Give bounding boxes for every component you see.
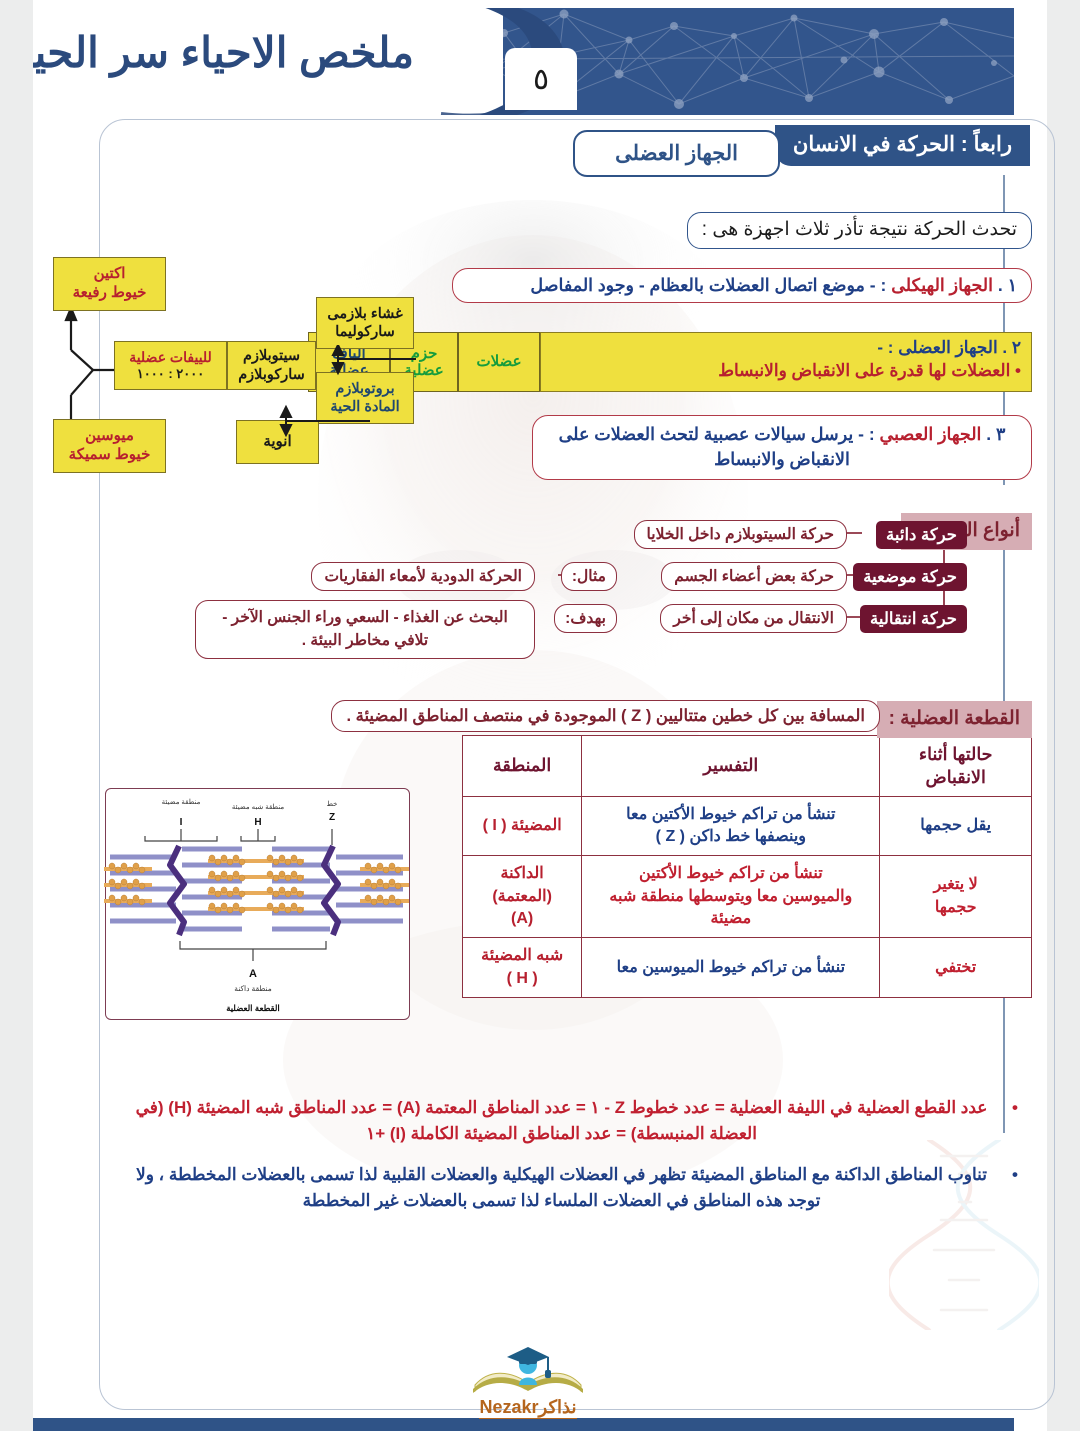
- box-myofibrils: للييفات عضلية ٢٠٠٠ : ١٠٠٠: [114, 341, 227, 390]
- footer-logo-text-en: Nezakr: [479, 1397, 538, 1417]
- row2-zone: الداكنة (المعتمة) (A): [463, 856, 582, 938]
- box-myosin-line2: خيوط سميكة: [69, 446, 151, 465]
- row2-zone-line2: (المعتمة): [471, 886, 573, 908]
- th-zone: المنطقة: [463, 736, 582, 797]
- box-membrane-line1: غشاء بلازمى: [327, 305, 402, 323]
- box-actin: اكتين خيوط رفيعة: [53, 257, 166, 311]
- svg-text:القطعة العضلية: القطعة العضلية: [226, 1003, 280, 1013]
- zones-table: حالتها أثناء الانقباض التفسير المنطقة يق…: [462, 735, 1032, 998]
- movement-note-locomotor-line2: تلافي مخاطر البيئة .: [208, 629, 522, 652]
- box-membrane-line2: ساركوليما: [335, 323, 395, 341]
- row1-explain-line2: وينصفها خط داكن ( Z ): [590, 826, 871, 848]
- sarcomere-figure-svg: منطقة مضيئة منطقة شبه مضيئة خط I H Z: [104, 789, 409, 1021]
- section-nav-chip[interactable]: رابعاً : الحركة في الانسان: [775, 125, 1030, 166]
- bullet-striation: • تناوب المناطق الداكنة مع المناطق المضي…: [118, 1162, 1018, 1215]
- figure-label-a: A: [249, 968, 257, 980]
- table-row: لا يتغير حجمها تنشأ من تراكم خيوط الأكتي…: [463, 856, 1032, 938]
- row2-zone-line1: الداكنة: [471, 863, 573, 885]
- system-3-colon: :: [869, 424, 875, 444]
- box-myofibrils-ratio: ٢٠٠٠ : ١٠٠٠: [137, 366, 204, 382]
- summary-bullets: • عدد القطع العضلية في الليفة العضلية = …: [118, 1095, 1018, 1228]
- footer-logo: نذاكرNezakr: [463, 1333, 593, 1421]
- movement-connector-example: مثال:: [561, 562, 617, 591]
- movement-type-local: حركة موضعية: [853, 563, 967, 591]
- row3-zone-line1: شبه المضيئة: [471, 945, 573, 967]
- movement-note-locomotor-line1: البحث عن الغذاء - السعي وراء الجنس الآخر…: [208, 606, 522, 629]
- system-2-number: ٢ .: [1002, 338, 1021, 357]
- svg-text:I: I: [180, 817, 183, 828]
- graduation-book-icon: [463, 1333, 593, 1395]
- bullet-formula-line1: عدد القطع العضلية في الليفة العضلية = عد…: [197, 1098, 988, 1117]
- row3-zone: شبه المضيئة ( H ): [463, 938, 582, 998]
- system-2-colon: :: [888, 338, 894, 357]
- sarcomere-definition: المسافة بين كل خطين متتاليين ( Z ) الموج…: [331, 700, 880, 732]
- system-2-dash: -: [877, 338, 883, 357]
- box-myosin-line1: ميوسين: [85, 427, 134, 446]
- row2-state: لا يتغير حجمها: [880, 856, 1032, 938]
- bullet-striation-body: تناوب المناطق الداكنة مع المناطق المضيئة…: [118, 1162, 1005, 1215]
- system-1-name: الجهاز الهيكلى: [891, 275, 993, 295]
- bullet-striation-line1: تناوب المناطق الداكنة مع المناطق المضيئة…: [241, 1165, 987, 1184]
- movement-type-continuous: حركة دائبة: [876, 521, 967, 549]
- svg-text:Z: Z: [329, 812, 335, 823]
- system-1-desc: - موضع اتصال العضلات بالعظام - وجود المف…: [530, 275, 875, 295]
- row1-explain-line1: تنشأ من تراكم خيوط الأكتين معا: [590, 804, 871, 826]
- svg-text:منطقة مضيئة: منطقة مضيئة: [162, 798, 201, 806]
- box-actin-line1: اكتين: [94, 265, 126, 284]
- sarcomere-heading: القطعة العضلية :: [877, 701, 1032, 738]
- svg-text:منطقة داكنة: منطقة داكنة: [234, 984, 272, 993]
- table-header-row: حالتها أثناء الانقباض التفسير المنطقة: [463, 736, 1032, 797]
- system-muscular: ٢ . الجهاز العضلى : - • العضلات لها قدرة…: [540, 332, 1032, 392]
- row2-explain-line1: تنشأ من تراكم خيوط الأكتين: [590, 863, 871, 885]
- system-2-name: الجهاز العضلى: [898, 338, 997, 357]
- row1-state: يقل حجمها: [880, 796, 1032, 856]
- movement-note-local: الحركة الدودية لأمعاء الفقاريات: [311, 562, 535, 591]
- system-1-colon: :: [880, 275, 886, 295]
- structure-double-arrows: [250, 345, 420, 455]
- bullet-dot: •: [1012, 1095, 1018, 1148]
- sarcomere-figure: منطقة مضيئة منطقة شبه مضيئة خط I H Z: [105, 788, 410, 1020]
- svg-text:خط: خط: [327, 800, 338, 808]
- system-2-bullet: • العضلات لها قدرة على الانقباض والانبسا…: [541, 360, 1021, 383]
- row2-state-line1: لا يتغير: [888, 874, 1023, 896]
- intro-statement: تحدث الحركة نتيجة تأذر ثلاث اجهزة هى :: [687, 212, 1032, 249]
- box-myosin: ميوسين خيوط سميكة: [53, 419, 166, 473]
- th-explain: التفسير: [582, 736, 880, 797]
- movement-desc-continuous: حركة السيتوبلازم داخل الخلايا: [634, 520, 847, 549]
- page-number-badge: ٥: [505, 48, 577, 110]
- row2-state-line2: حجمها: [888, 897, 1023, 919]
- footer-logo-text-ar: نذاكر: [539, 1397, 577, 1417]
- system-3-desc: - يرسل سيالات عصبية لتحث العضلات على: [559, 424, 864, 444]
- table-row: تختفي تنشأ من تراكم خيوط الميوسين معا شب…: [463, 938, 1032, 998]
- flow-cell-muscles: عضلات: [458, 332, 540, 392]
- row1-zone: المضيئة ( I ): [463, 796, 582, 856]
- bullet-formula-body: عدد القطع العضلية في الليفة العضلية = عد…: [118, 1095, 1005, 1148]
- system-3-number: ٣ .: [986, 424, 1005, 444]
- th-state: حالتها أثناء الانقباض: [880, 736, 1032, 797]
- system-3-desc-line2: الانقباض والانبساط: [547, 447, 1017, 472]
- movement-note-locomotor: البحث عن الغذاء - السعي وراء الجنس الآخر…: [195, 600, 535, 659]
- footer-logo-text: نذاكرNezakr: [479, 1397, 576, 1419]
- system-1-number: ١ .: [998, 275, 1017, 295]
- row3-state: تختفي: [880, 938, 1032, 998]
- system-3-name: الجهاز العصبي: [880, 424, 982, 444]
- page-margin-left: [0, 0, 33, 1431]
- row1-explain: تنشأ من تراكم خيوط الأكتين معا وينصفها خ…: [582, 796, 880, 856]
- svg-text:منطقة شبه مضيئة: منطقة شبه مضيئة: [232, 803, 285, 811]
- row2-explain-line2: والميوسين معا ويتوسطها منطقة شبه: [590, 886, 871, 908]
- box-plasma-membrane: غشاء بلازمى ساركوليما: [316, 297, 414, 349]
- movement-connector-purpose: بهدف:: [554, 604, 617, 633]
- movement-type-locomotor: حركة انتقالية: [860, 605, 967, 633]
- movement-desc-local: حركة بعض أعضاء الجسم: [661, 562, 847, 591]
- bullet-formula: • عدد القطع العضلية في الليفة العضلية = …: [118, 1095, 1018, 1148]
- row3-zone-line2: ( H ): [471, 968, 573, 990]
- row3-explain: تنشأ من تراكم خيوط الميوسين معا: [582, 938, 880, 998]
- system-nervous: ٣ . الجهاز العصبي : - يرسل سيالات عصبية …: [532, 415, 1032, 480]
- section-subtitle-chip[interactable]: الجهاز العضلى: [573, 130, 780, 177]
- box-myofibrils-line1: للييفات عضلية: [129, 349, 212, 367]
- row2-explain-line3: مضيئة: [590, 908, 871, 930]
- page-title: ملخص الاحياء سر الحياة: [33, 28, 414, 77]
- table-row: يقل حجمها تنشأ من تراكم خيوط الأكتين معا…: [463, 796, 1032, 856]
- svg-text:H: H: [254, 817, 261, 828]
- movement-desc-locomotor: الانتقال من مكان إلى أخر: [660, 604, 847, 633]
- row2-zone-line3: (A): [471, 908, 573, 930]
- bullet-dot: •: [1012, 1162, 1018, 1215]
- row2-explain: تنشأ من تراكم خيوط الأكتين والميوسين معا…: [582, 856, 880, 938]
- box-actin-line2: خيوط رفيعة: [73, 284, 147, 303]
- system-skeletal: ١ . الجهاز الهيكلى : - موضع اتصال العضلا…: [452, 268, 1032, 303]
